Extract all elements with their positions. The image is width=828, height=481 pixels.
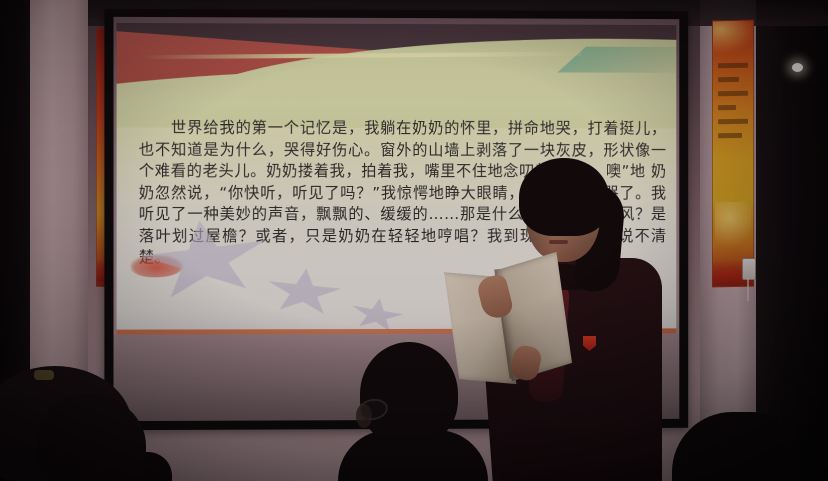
banner-right-text-column	[718, 63, 748, 139]
hair-clip-icon	[34, 370, 54, 380]
room-dark-right-edge	[756, 0, 828, 481]
star-large-icon	[134, 212, 274, 308]
presenter-mouth	[549, 240, 568, 244]
presenter-reading	[486, 158, 662, 481]
red-culture-banner	[712, 20, 754, 288]
banner-right-swirl-graphic	[712, 20, 754, 54]
presenter-hair	[519, 158, 609, 236]
banner-right-motif-graphic	[715, 202, 751, 257]
photo-scene: ☭ 世界给我的第一个记忆是，我躺在奶奶的怀里，拼命地哭，打着挺儿，也不知	[0, 0, 828, 481]
audience-member-center	[344, 342, 474, 481]
audience-left-hair-strands	[38, 394, 146, 481]
audience-member-left	[0, 366, 158, 481]
star-medium-icon	[263, 264, 344, 320]
switch-cord	[747, 277, 749, 301]
audience-center-head	[360, 342, 458, 446]
ceiling-light-icon	[792, 63, 803, 72]
light-switch[interactable]	[742, 258, 756, 280]
